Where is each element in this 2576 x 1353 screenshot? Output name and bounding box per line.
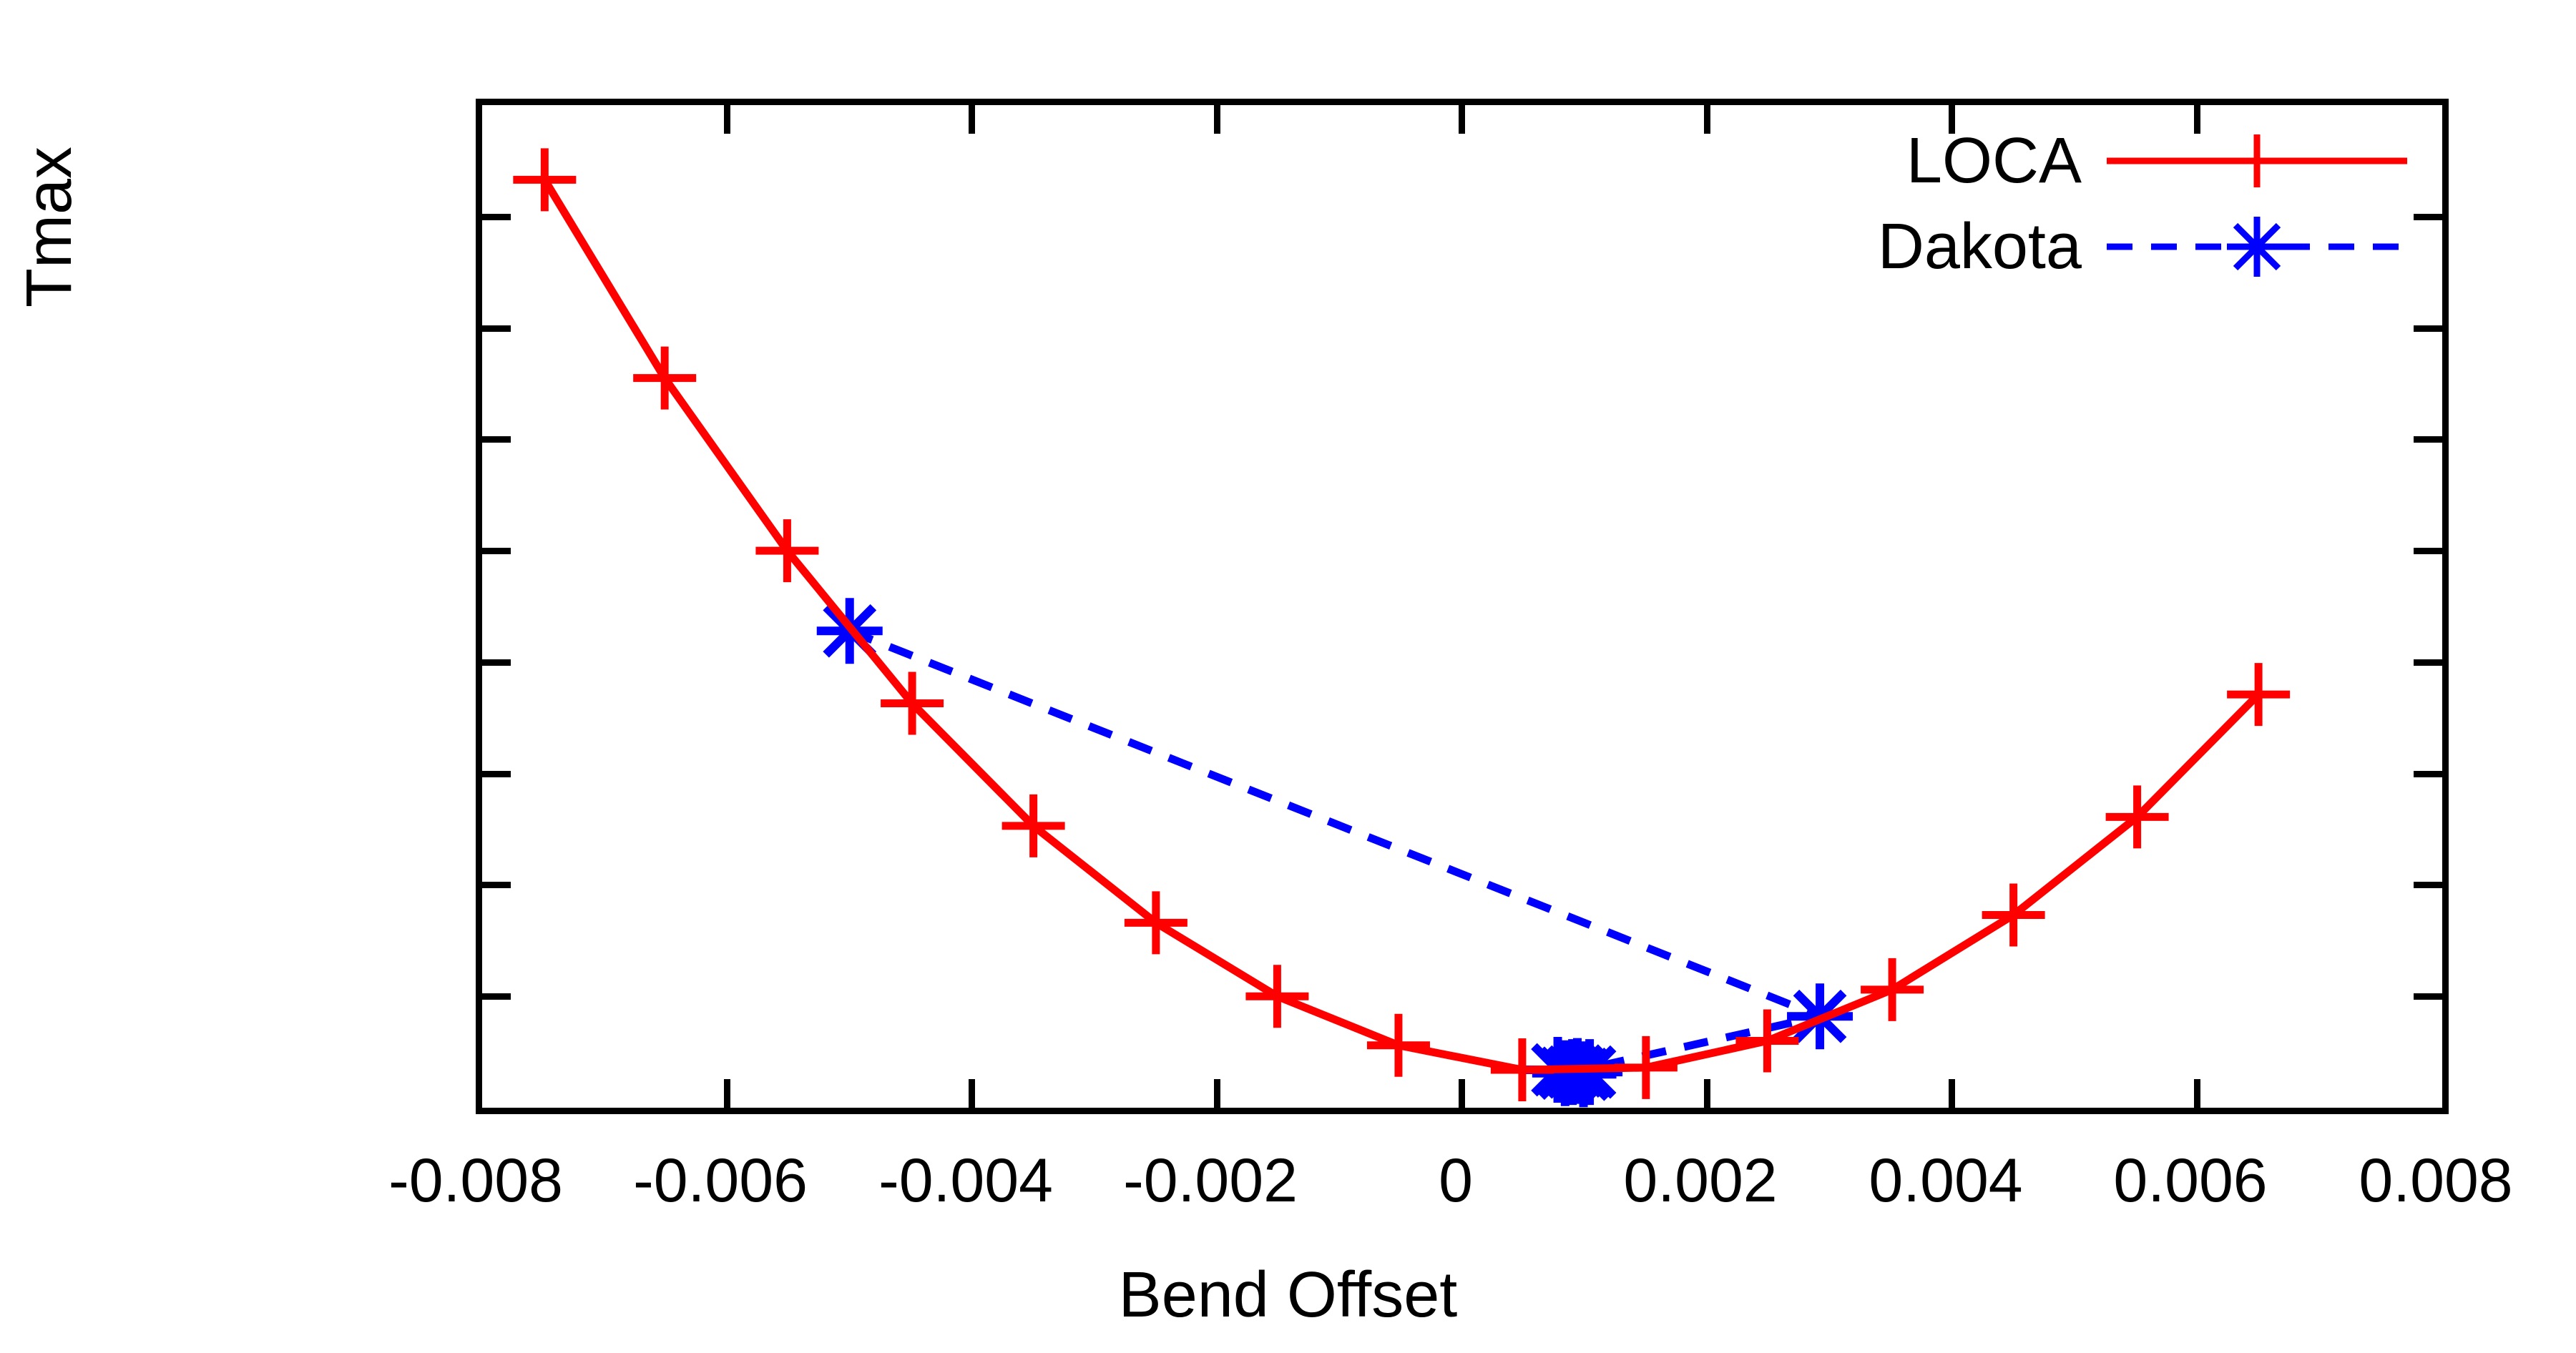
x-tick-label: 0.004	[1869, 1150, 2022, 1211]
y-axis-title: Tmax	[13, 147, 87, 307]
x-tick-label: 0.008	[2359, 1150, 2512, 1211]
x-tick-label: 0.006	[2113, 1150, 2267, 1211]
series-dakota	[817, 598, 1853, 1107]
x-tick-label: -0.002	[1123, 1150, 1298, 1211]
x-tick-label: -0.008	[388, 1150, 563, 1211]
x-tick-label: -0.004	[878, 1150, 1053, 1211]
x-axis-title: Bend Offset	[0, 1259, 2576, 1332]
legend-label-dakota: Dakota	[1878, 207, 2082, 286]
legend-entry-dakota[interactable]: Dakota	[1781, 207, 2411, 293]
legend: LOCA Dakota	[1781, 122, 2411, 293]
x-tick-label: -0.006	[633, 1150, 808, 1211]
x-tick-label: 0	[1439, 1150, 1473, 1211]
legend-entry-loca[interactable]: LOCA	[1781, 122, 2411, 207]
chart-canvas: Tmax 26.8 26.7 26.6 26.5 26.4 26.3 26.2 …	[0, 0, 2576, 1353]
legend-sample-loca	[2103, 122, 2411, 200]
x-tick-label: 0.002	[1623, 1150, 1777, 1211]
legend-sample-dakota	[2103, 207, 2411, 286]
legend-label-loca: LOCA	[1906, 122, 2082, 200]
